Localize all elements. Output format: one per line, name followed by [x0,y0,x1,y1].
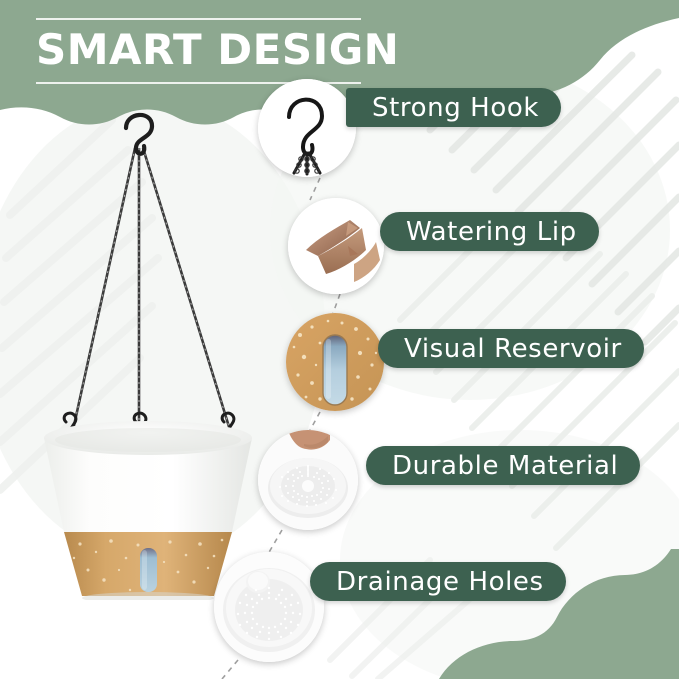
visual-reservoir-photo [286,313,384,411]
feature-label-text: Drainage Holes [336,567,544,597]
feature-label-strong-hook[interactable]: Strong Hook [346,88,561,127]
feature-label-watering-lip[interactable]: Watering Lip [380,212,599,251]
strong-hook-photo [258,79,356,177]
durable-disc-icon [258,430,358,530]
drainage-basket-icon [214,552,324,662]
watering-lip-photo [288,198,384,294]
feature-label-durable-material[interactable]: Durable Material [366,446,640,485]
watering-lip-icon [288,198,384,294]
drainage-holes-photo [214,552,324,662]
hook-icon [258,79,356,177]
feature-label-text: Watering Lip [406,217,577,247]
feature-label-visual-reservoir[interactable]: Visual Reservoir [378,329,644,368]
durable-material-photo [258,430,358,530]
infographic-canvas: SMART DESIGN [0,0,679,679]
feature-label-text: Visual Reservoir [404,334,622,364]
reservoir-icon [286,313,384,411]
feature-list: Strong Hook [0,0,679,679]
feature-label-text: Strong Hook [372,93,539,123]
feature-label-drainage-holes[interactable]: Drainage Holes [310,562,566,601]
feature-label-text: Durable Material [392,451,618,481]
